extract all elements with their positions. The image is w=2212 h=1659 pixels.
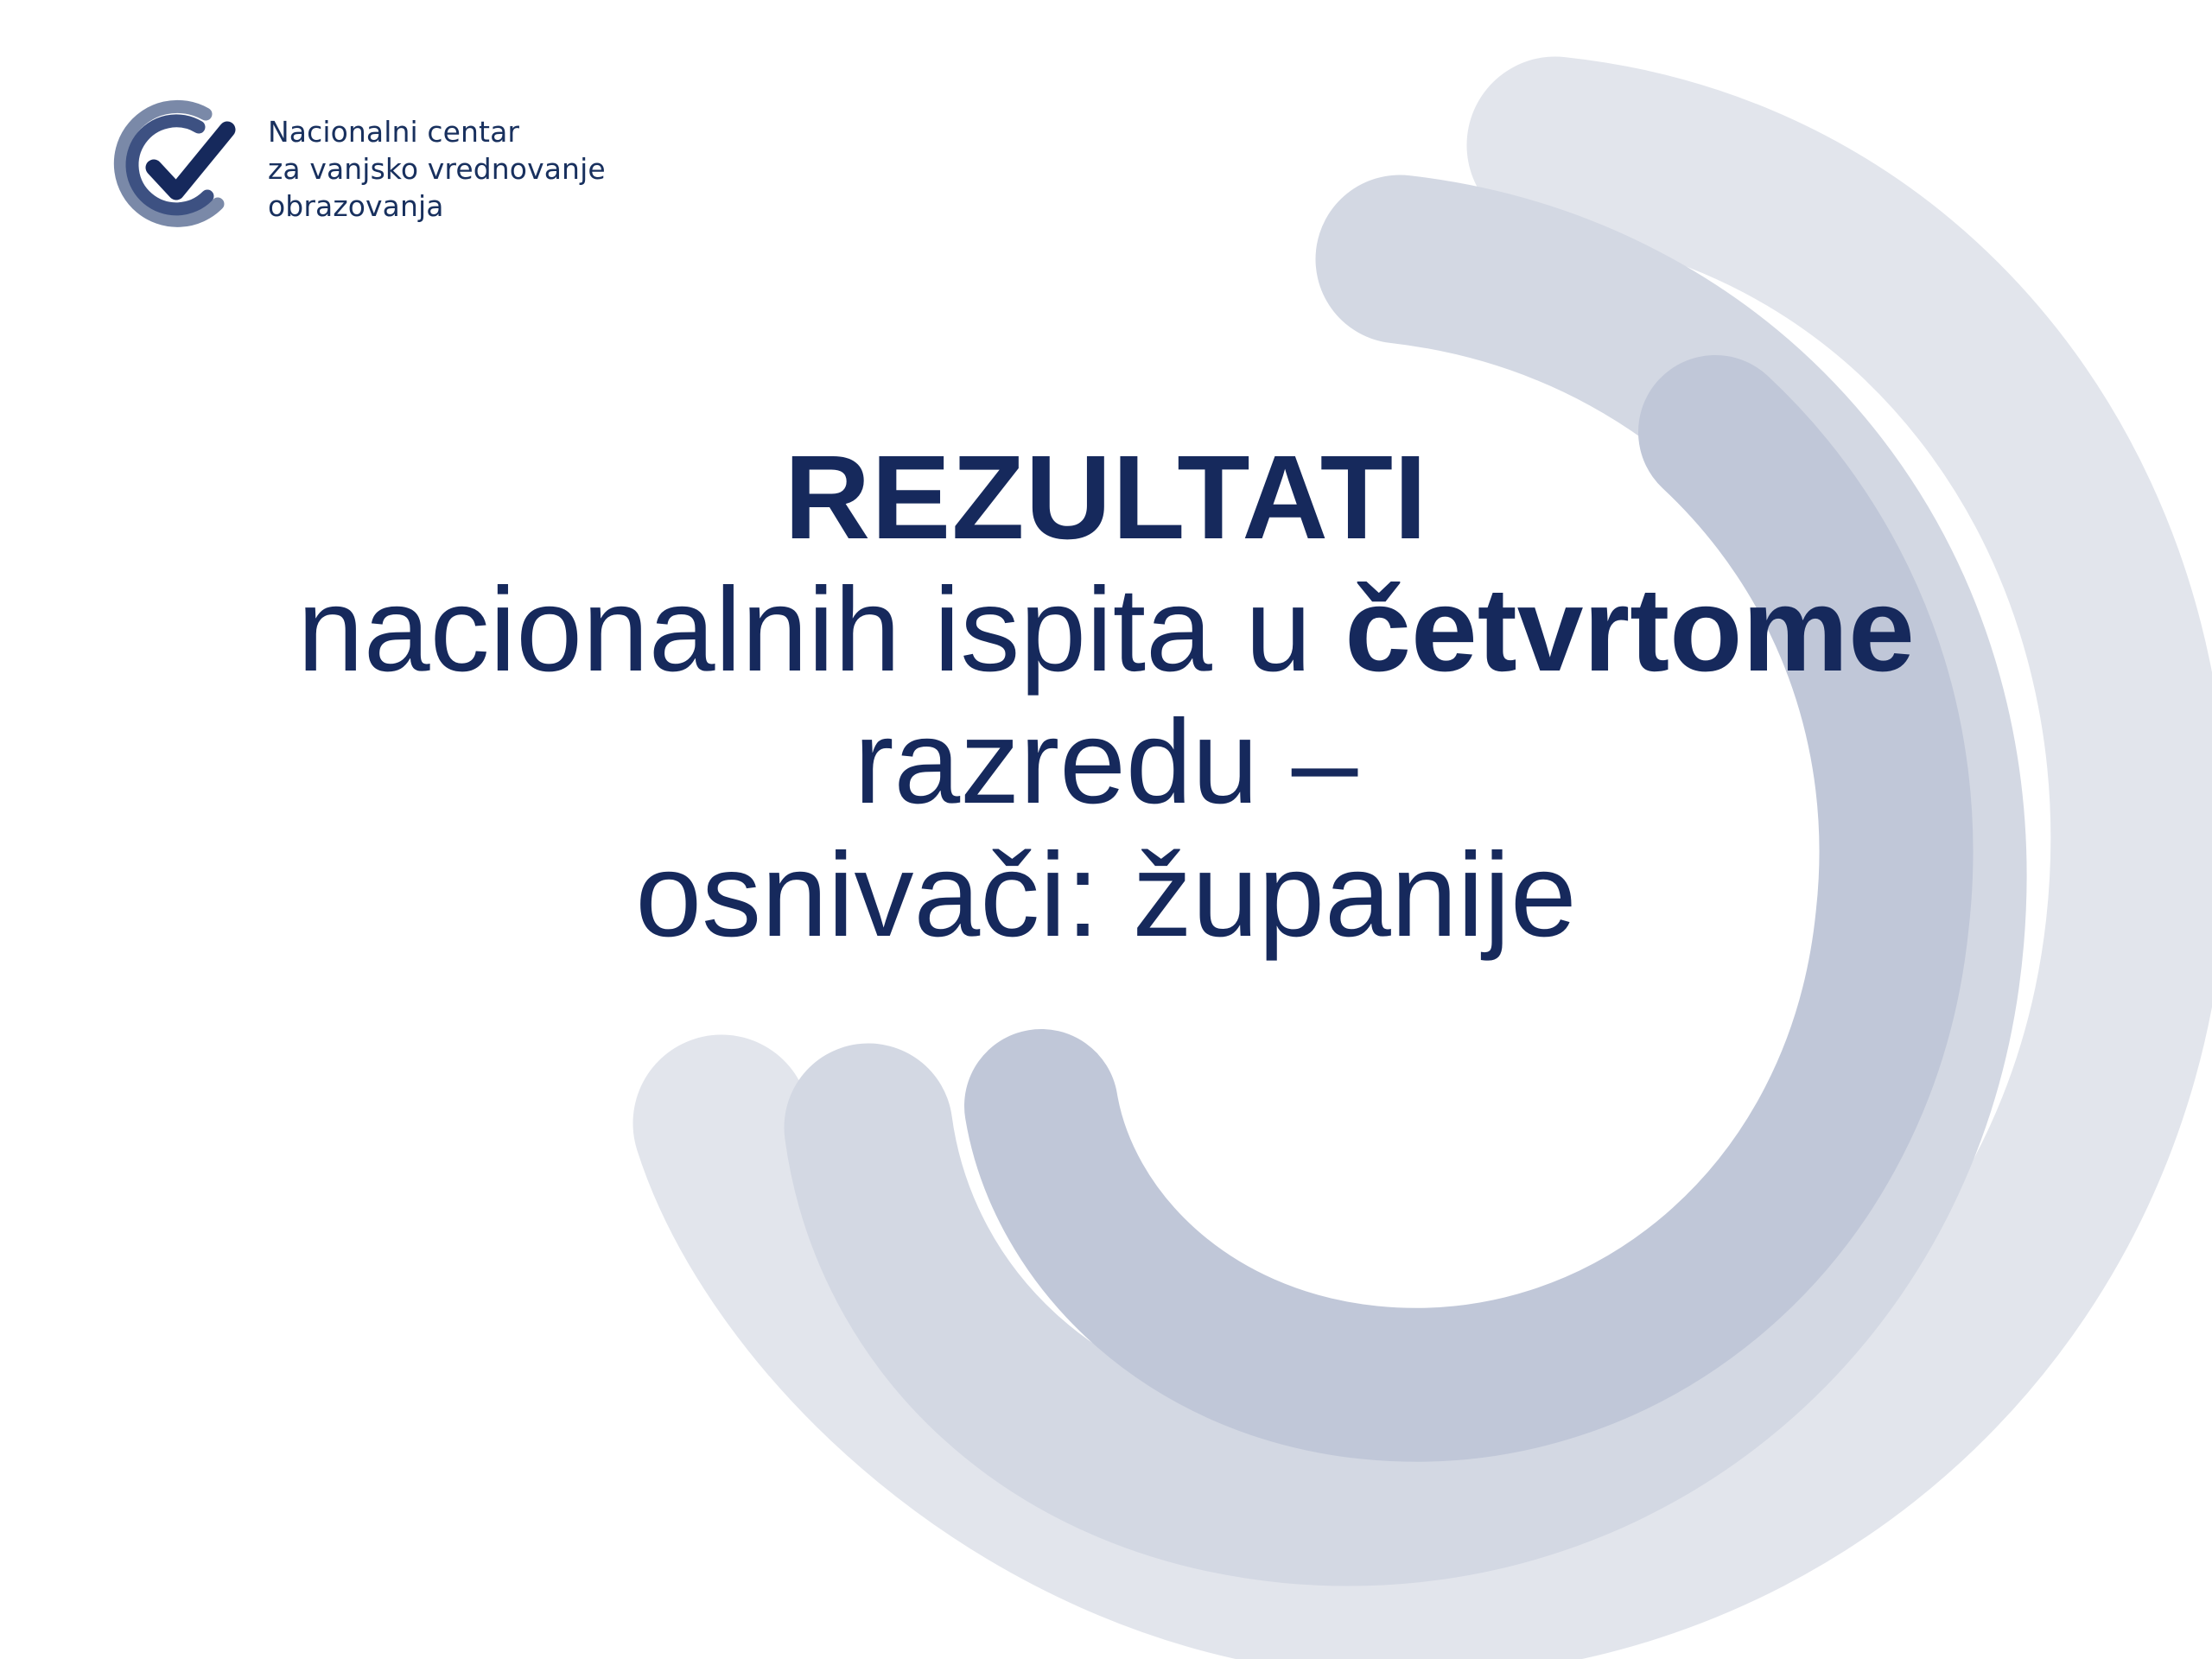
organization-logo: Nacionalni centar za vanjsko vrednovanje… xyxy=(104,90,606,245)
title-line-1: REZULTATI xyxy=(0,432,2212,564)
logo-wordmark-line-2: za vanjsko vrednovanje xyxy=(268,151,606,188)
presentation-slide: Nacionalni centar za vanjsko vrednovanje… xyxy=(0,0,2212,1659)
logo-check-icon xyxy=(154,130,227,192)
organization-name: Nacionalni centar za vanjsko vrednovanje… xyxy=(268,114,606,226)
title-line-3: razredu – xyxy=(0,696,2212,829)
logo-wordmark-line-3: obrazovanja xyxy=(268,188,606,226)
ncvvo-checkmark-circle-logo-icon xyxy=(104,92,249,245)
slide-title: REZULTATI nacionalnih ispita u četvrtome… xyxy=(0,432,2212,962)
logo-wordmark-line-1: Nacionalni centar xyxy=(268,114,606,151)
title-line-2-emphasis: četvrtome xyxy=(1344,563,1915,696)
title-line-2-prefix: nacionalnih ispita u xyxy=(297,563,1344,696)
title-line-4: osnivači: županije xyxy=(0,829,2212,962)
title-line-2: nacionalnih ispita u četvrtome xyxy=(0,564,2212,696)
